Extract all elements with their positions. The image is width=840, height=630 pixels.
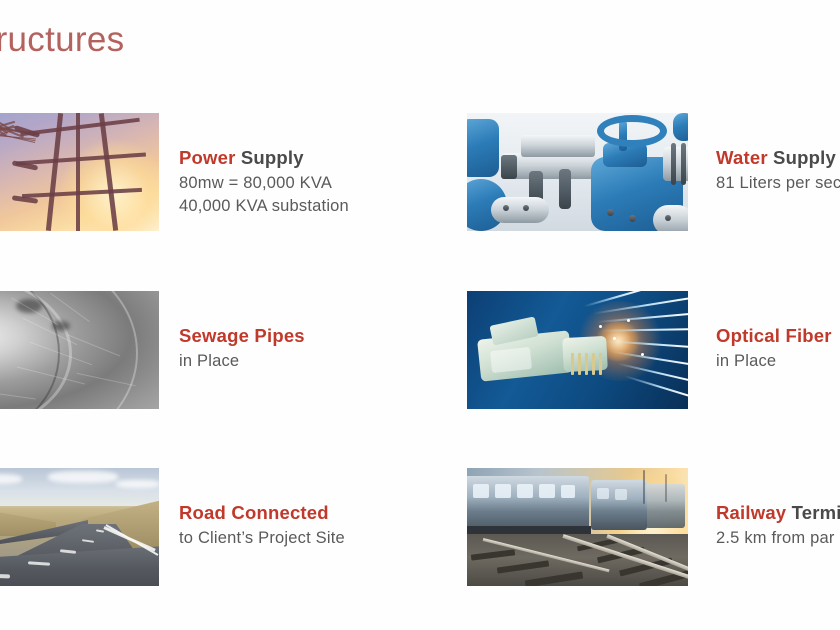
water-valves-pipes-photo [467,113,688,231]
feature-subtitle: in Place [179,350,305,373]
feature-sewage-pipes: Sewage Pipes in Place [0,291,305,409]
feature-subtitle: to Client’s Project Site [179,527,345,550]
feature-title-rest: Supply [236,147,304,168]
feature-title: Power Supply [179,146,349,169]
feature-title: Optical Fiber [716,324,832,347]
feature-caption: Road Connected to Client’s Project Site [179,468,345,550]
feature-railway-terminal: Railway Termin 2.5 km from par [467,468,840,586]
feature-subtitle-line: in Place [716,350,832,373]
feature-power-supply: Power Supply 80mw = 80,000 KVA 40,000 KV… [0,113,349,231]
feature-title-accent: Sewage Pipes [179,325,305,346]
feature-title-rest: Supply [768,147,836,168]
power-transmission-tower-photo [0,113,159,231]
feature-subtitle: 80mw = 80,000 KVA 40,000 KVA substation [179,172,349,218]
feature-title: Sewage Pipes [179,324,305,347]
feature-subtitle-line: 81 Liters per sec [716,172,840,195]
feature-title: Water Supply [716,146,840,169]
feature-title: Road Connected [179,501,345,524]
feature-subtitle: in Place [716,350,832,373]
feature-title: Railway Termin [716,501,840,524]
feature-title-accent: Power [179,147,236,168]
feature-title-accent: Water [716,147,768,168]
feature-caption: Water Supply 81 Liters per sec [716,113,840,195]
feature-subtitle-line: 40,000 KVA substation [179,195,349,218]
feature-caption: Sewage Pipes in Place [179,291,305,373]
feature-subtitle: 81 Liters per sec [716,172,840,195]
feature-caption: Railway Termin 2.5 km from par [716,468,840,550]
feature-subtitle-line: 80mw = 80,000 KVA [179,172,349,195]
feature-caption: Optical Fiber in Place [716,291,832,373]
railway-train-sunset-photo [467,468,688,586]
highway-road-photo [0,468,159,586]
feature-road-connected: Road Connected to Client’s Project Site [0,468,345,586]
feature-caption: Power Supply 80mw = 80,000 KVA 40,000 KV… [179,113,349,218]
features-grid: Power Supply 80mw = 80,000 KVA 40,000 KV… [0,0,840,630]
feature-title-accent: Optical Fiber [716,325,832,346]
feature-title-accent: Railway [716,502,786,523]
feature-subtitle-line: 2.5 km from par [716,527,840,550]
feature-title-rest: Termin [786,502,840,523]
feature-title-accent: Road Connected [179,502,329,523]
feature-optical-fiber: Optical Fiber in Place [467,291,832,409]
feature-water-supply: Water Supply 81 Liters per sec [467,113,840,231]
feature-subtitle-line: in Place [179,350,305,373]
feature-subtitle-line: to Client’s Project Site [179,527,345,550]
sewage-pipe-tunnel-photo [0,291,159,409]
fiber-optic-cable-photo [467,291,688,409]
feature-subtitle: 2.5 km from par [716,527,840,550]
